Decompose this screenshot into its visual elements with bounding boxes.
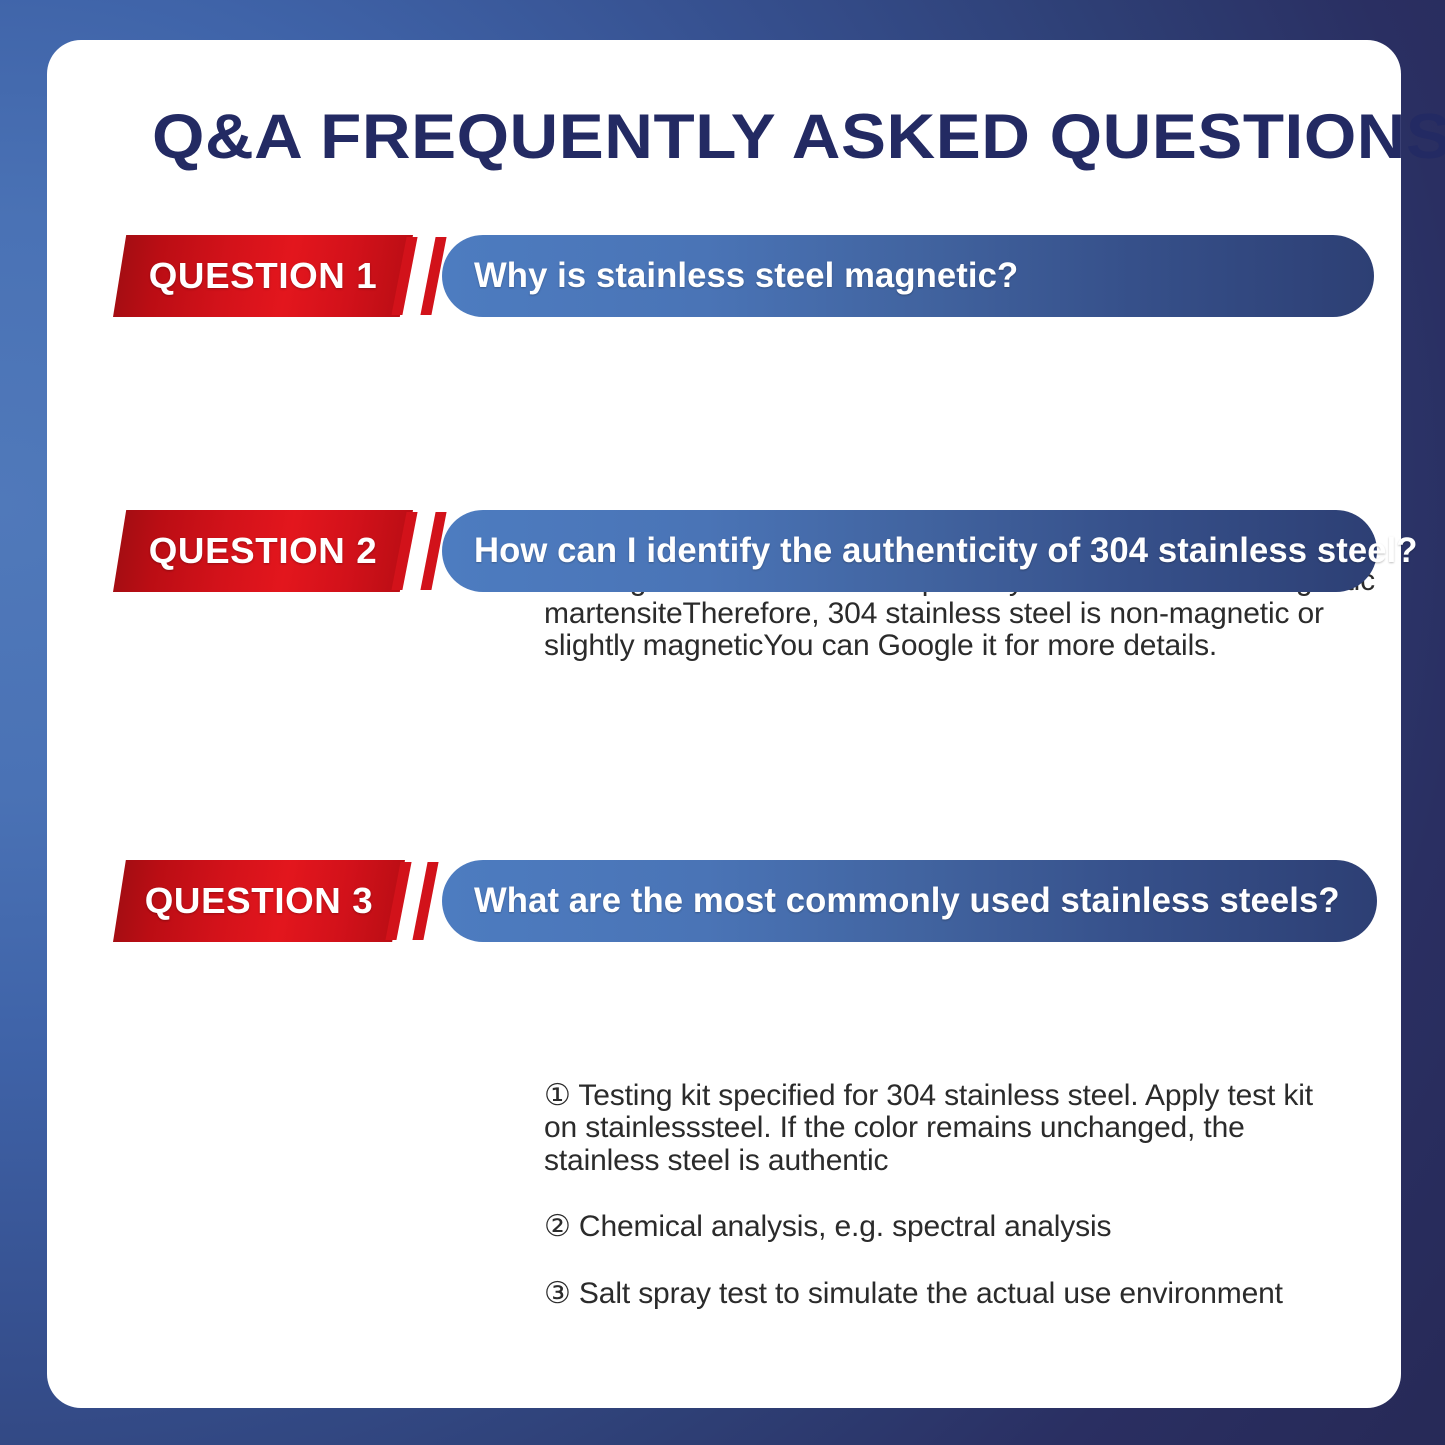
answer-paragraph: ③ Salt spray test to simulate the actual… — [544, 1278, 1344, 1310]
question-banner-2: QUESTION 2 How can I identify the authen… — [47, 510, 1401, 592]
faq-item-3: QUESTION 3 What are the most commonly us… — [47, 860, 1401, 942]
question-text-1: Why is stainless steel magnetic? — [474, 256, 1018, 296]
question-tag-label-1: QUESTION 1 — [149, 255, 378, 297]
question-tag-3[interactable]: QUESTION 3 — [113, 860, 405, 942]
question-text-2: How can I identify the authenticity of 3… — [474, 531, 1418, 571]
question-pill-2[interactable]: How can I identify the authenticity of 3… — [442, 510, 1377, 592]
faq-card: Q&A FREQUENTLY ASKED QUESTIONS QUESTION … — [47, 40, 1401, 1408]
slash-divider-3b — [412, 862, 438, 940]
question-tag-label-2: QUESTION 2 — [149, 530, 378, 572]
question-banner-3: QUESTION 3 What are the most commonly us… — [47, 860, 1401, 942]
faq-item-1: QUESTION 1 Why is stainless steel magnet… — [47, 235, 1401, 317]
question-tag-1[interactable]: QUESTION 1 — [113, 235, 413, 317]
answer-paragraph: ① Testing kit specified for 304 stainles… — [544, 1080, 1344, 1177]
faq-item-2: QUESTION 2 How can I identify the authen… — [47, 510, 1401, 592]
question-tag-label-3: QUESTION 3 — [145, 880, 374, 922]
answer-paragraph: ② Chemical analysis, e.g. spectral analy… — [544, 1211, 1344, 1243]
question-pill-3[interactable]: What are the most commonly used stainles… — [442, 860, 1377, 942]
question-text-3: What are the most commonly used stainles… — [474, 881, 1340, 921]
question-pill-1[interactable]: Why is stainless steel magnetic? — [442, 235, 1374, 317]
question-tag-2[interactable]: QUESTION 2 — [113, 510, 413, 592]
answer-2: ① Testing kit specified for 304 stainles… — [544, 1080, 1344, 1310]
question-banner-1: QUESTION 1 Why is stainless steel magnet… — [47, 235, 1401, 317]
page-title: Q&A FREQUENTLY ASKED QUESTIONS — [152, 106, 1415, 169]
